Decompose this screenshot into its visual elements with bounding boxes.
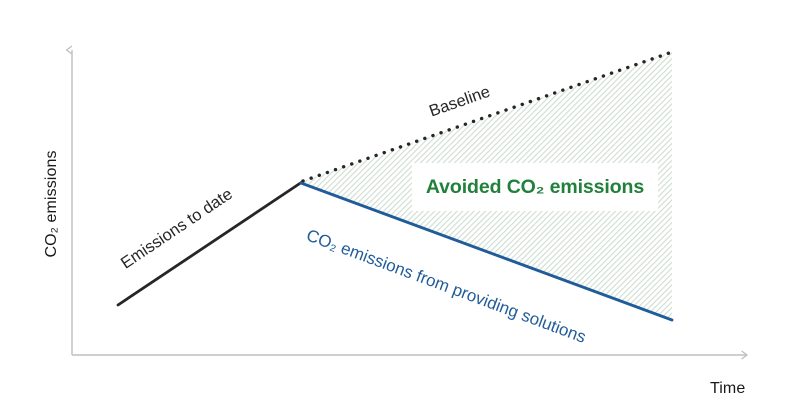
chart-canvas: CO₂ emissions Time Emissions to date Bas… <box>0 0 795 416</box>
annotation-avoided-emissions: Avoided CO₂ emissions <box>426 176 644 199</box>
chart-graphic <box>0 0 795 416</box>
x-axis-label: Time <box>710 380 745 398</box>
avoided-emissions-label-box: Avoided CO₂ emissions <box>412 163 658 211</box>
y-axis-label: CO₂ emissions <box>43 124 61 284</box>
